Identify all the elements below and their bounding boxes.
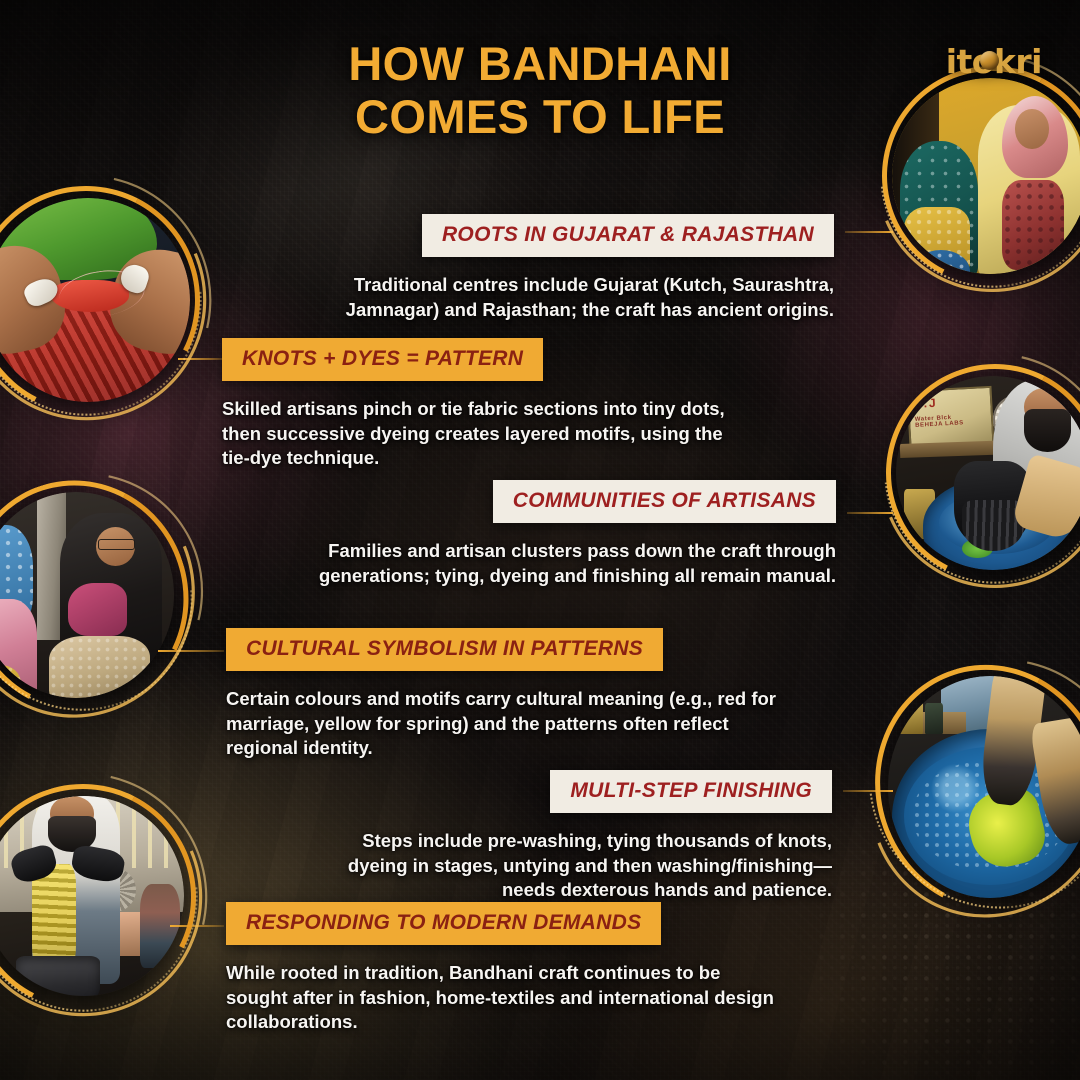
itokri-logo: itokri [946, 42, 1042, 81]
photo-artisan-lifting-yellow-skeins [0, 796, 184, 996]
connector-line [178, 358, 226, 360]
photo-woman-black-shawl-tying [0, 492, 174, 698]
page-title: HOW BANDHANI COMES TO LIFE [0, 38, 1080, 143]
section-heading: CULTURAL SYMBOLISM IN PATTERNS [226, 628, 663, 671]
photo-indigo-vat-dipping [888, 676, 1080, 898]
section-heading: COMMUNITIES OF ARTISANS [493, 480, 836, 523]
connector-line [158, 650, 224, 652]
section-heading: ROOTS IN GUJARAT & RAJASTHAN [422, 214, 834, 257]
logo-circle-icon [980, 51, 999, 70]
section-heading: KNOTS + DYES = PATTERN [222, 338, 543, 381]
section-heading: MULTI-STEP FINISHING [550, 770, 832, 813]
section-heading: RESPONDING TO MODERN DEMANDS [226, 902, 661, 945]
infographic-poster: HOW BANDHANI COMES TO LIFE itokri [0, 0, 1080, 1080]
section-modern-demands: RESPONDING TO MODERN DEMANDS While roote… [226, 902, 780, 1035]
section-body: Steps include pre-washing, tying thousan… [320, 829, 832, 903]
connector-line [845, 231, 893, 233]
section-communities: COMMUNITIES OF ARTISANS Families and art… [240, 480, 836, 588]
section-body: Traditional centres include Gujarat (Kut… [270, 273, 834, 322]
connector-line [847, 512, 893, 514]
connector-line [843, 790, 893, 792]
photo-hands-nail-guards-red-fabric [0, 198, 190, 402]
section-body: Skilled artisans pinch or tie fabric sec… [222, 397, 750, 471]
section-body: Certain colours and motifs carry cultura… [226, 687, 780, 761]
section-roots: ROOTS IN GUJARAT & RAJASTHAN Traditional… [270, 214, 834, 322]
connector-line [170, 925, 224, 927]
photo-artisan-gloves-blue-dye-tub: J.J Water BlckBEHEJA LABS [896, 376, 1080, 570]
section-cultural-symbolism: CULTURAL SYMBOLISM IN PATTERNS Certain c… [226, 628, 780, 761]
section-knots-dyes: KNOTS + DYES = PATTERN Skilled artisans … [222, 338, 750, 471]
section-body: While rooted in tradition, Bandhani craf… [226, 961, 780, 1035]
section-multi-step-finishing: MULTI-STEP FINISHING Steps include pre-w… [320, 770, 832, 903]
section-body: Families and artisan clusters pass down … [240, 539, 836, 588]
